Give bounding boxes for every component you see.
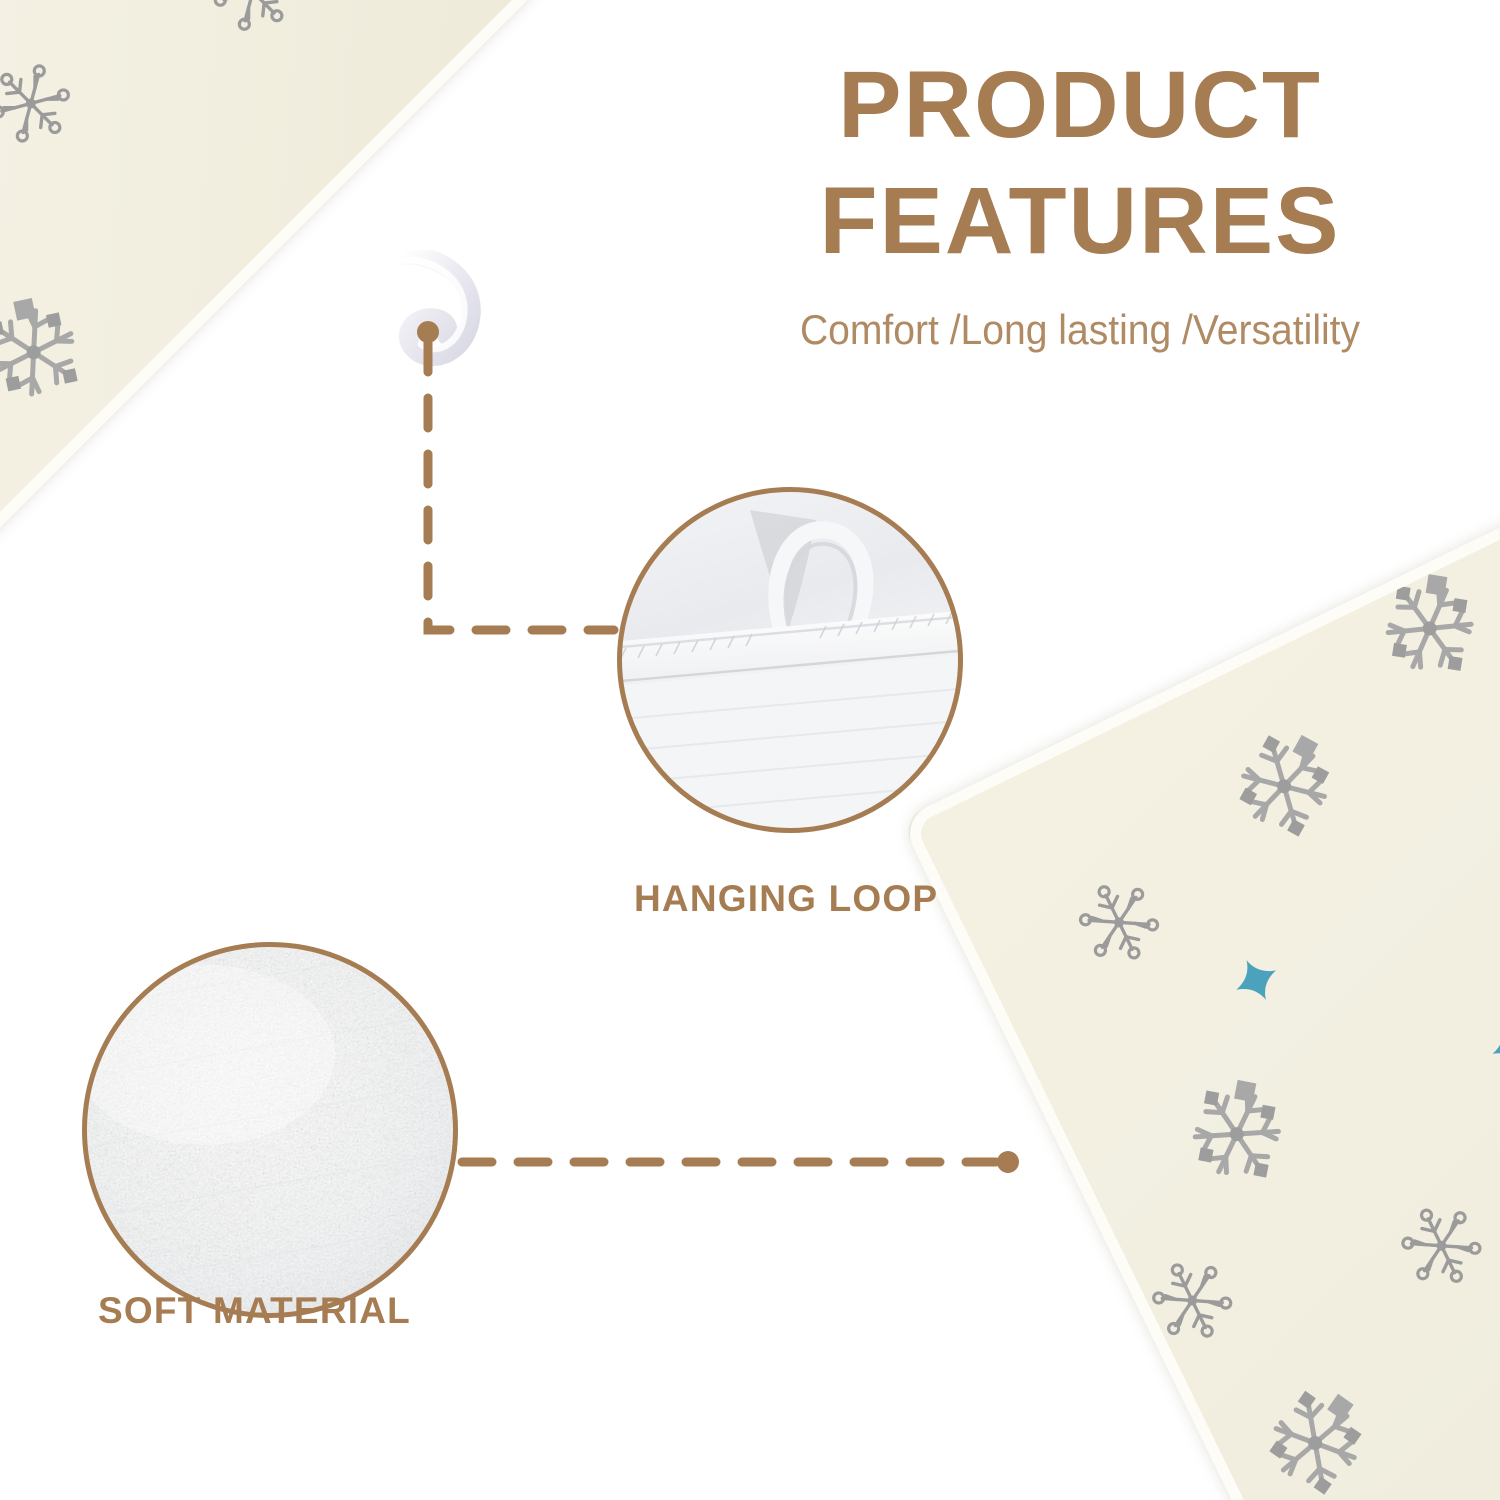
page-title-line-1: PRODUCT <box>700 48 1460 164</box>
page-subtitle: Comfort /Long lasting /Versatility <box>727 306 1434 354</box>
callout-label-hanging-loop: HANGING LOOP <box>634 878 938 920</box>
dot-marker-icon-hanging-loop <box>417 321 439 343</box>
product-mat-bottom-right <box>900 347 1500 1500</box>
callout-label-soft-material: SOFT MATERIAL <box>98 1290 411 1332</box>
mat-hem-bottom-right <box>900 347 1500 1500</box>
connector-hanging-loop <box>428 342 614 630</box>
dot-marker-icon-soft-material <box>997 1151 1019 1173</box>
infographic-canvas: HANGING LOOP <box>0 0 1500 1500</box>
hanging-loop-icon <box>371 250 489 368</box>
callout-hanging-loop-image[interactable] <box>620 490 960 830</box>
heading-block: PRODUCT FEATURES Comfort /Long lasting /… <box>700 48 1460 354</box>
hanging-loop-closeup <box>620 490 960 830</box>
page-title-line-2: FEATURES <box>700 164 1460 280</box>
callout-soft-material-image[interactable] <box>85 945 455 1315</box>
soft-material-closeup <box>85 945 455 1315</box>
